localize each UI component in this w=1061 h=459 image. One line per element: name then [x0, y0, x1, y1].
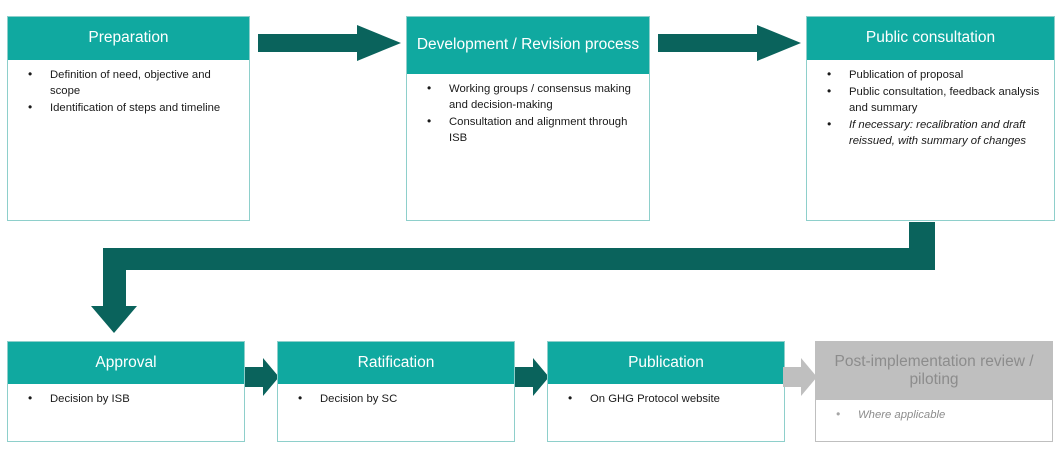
- arrow-preparation-to-development-icon: [258, 25, 401, 61]
- step-title-publication: Publication: [548, 342, 784, 384]
- step-body-post-implementation-review-piloting: Where applicable: [816, 400, 1052, 441]
- step-body-ratification: Decision by SC: [278, 384, 514, 441]
- list-item: On GHG Protocol website: [556, 391, 776, 407]
- bullet-list-preparation: Definition of need, objective and scope …: [16, 67, 241, 116]
- step-body-publication: On GHG Protocol website: [548, 384, 784, 441]
- list-item: Consultation and alignment through ISB: [415, 114, 641, 146]
- list-item: Publication of proposal: [815, 67, 1046, 83]
- arrow-public-consultation-to-approval-icon: [90, 222, 938, 337]
- step-body-public-consultation: Publication of proposal Public consultat…: [807, 60, 1054, 220]
- step-body-preparation: Definition of need, objective and scope …: [8, 60, 249, 220]
- step-body-approval: Decision by ISB: [8, 384, 244, 441]
- step-box-post-implementation-review-piloting[interactable]: Post-implementation review / piloting Wh…: [815, 341, 1053, 442]
- list-item: Where applicable: [824, 407, 1044, 423]
- step-title-public-consultation: Public consultation: [807, 17, 1054, 60]
- list-item: Identification of steps and timeline: [16, 100, 241, 116]
- list-item: If necessary: recalibration and draft re…: [815, 117, 1046, 149]
- bullet-list-public-consultation: Publication of proposal Public consultat…: [815, 67, 1046, 149]
- list-item: Public consultation, feedback analysis a…: [815, 84, 1046, 116]
- list-item: Decision by ISB: [16, 391, 236, 407]
- step-title-ratification: Ratification: [278, 342, 514, 384]
- arrow-publication-to-post-implementation-icon: [783, 358, 817, 396]
- bullet-list-approval: Decision by ISB: [16, 391, 236, 407]
- arrow-ratification-to-publication-icon: [515, 358, 549, 396]
- step-box-public-consultation[interactable]: Public consultation Publication of propo…: [806, 16, 1055, 221]
- bullet-list-ratification: Decision by SC: [286, 391, 506, 407]
- step-body-development-revision-process: Working groups / consensus making and de…: [407, 74, 649, 220]
- step-box-development-revision-process[interactable]: Development / Revision process Working g…: [406, 16, 650, 221]
- flowchart-canvas: Preparation Definition of need, objectiv…: [0, 0, 1061, 459]
- bullet-list-publication: On GHG Protocol website: [556, 391, 776, 407]
- arrow-approval-to-ratification-icon: [245, 358, 279, 396]
- arrow-development-to-public-consultation-icon: [658, 25, 801, 61]
- step-box-approval[interactable]: Approval Decision by ISB: [7, 341, 245, 442]
- list-item: Decision by SC: [286, 391, 506, 407]
- step-box-publication[interactable]: Publication On GHG Protocol website: [547, 341, 785, 442]
- step-title-development-revision-process: Development / Revision process: [407, 17, 649, 74]
- step-box-ratification[interactable]: Ratification Decision by SC: [277, 341, 515, 442]
- bullet-list-post-implementation-review-piloting: Where applicable: [824, 407, 1044, 423]
- step-title-post-implementation-review-piloting: Post-implementation review / piloting: [816, 342, 1052, 400]
- list-item: Working groups / consensus making and de…: [415, 81, 641, 113]
- step-title-approval: Approval: [8, 342, 244, 384]
- step-title-preparation: Preparation: [8, 17, 249, 60]
- bullet-list-development-revision-process: Working groups / consensus making and de…: [415, 81, 641, 146]
- step-box-preparation[interactable]: Preparation Definition of need, objectiv…: [7, 16, 250, 221]
- list-item: Definition of need, objective and scope: [16, 67, 241, 99]
